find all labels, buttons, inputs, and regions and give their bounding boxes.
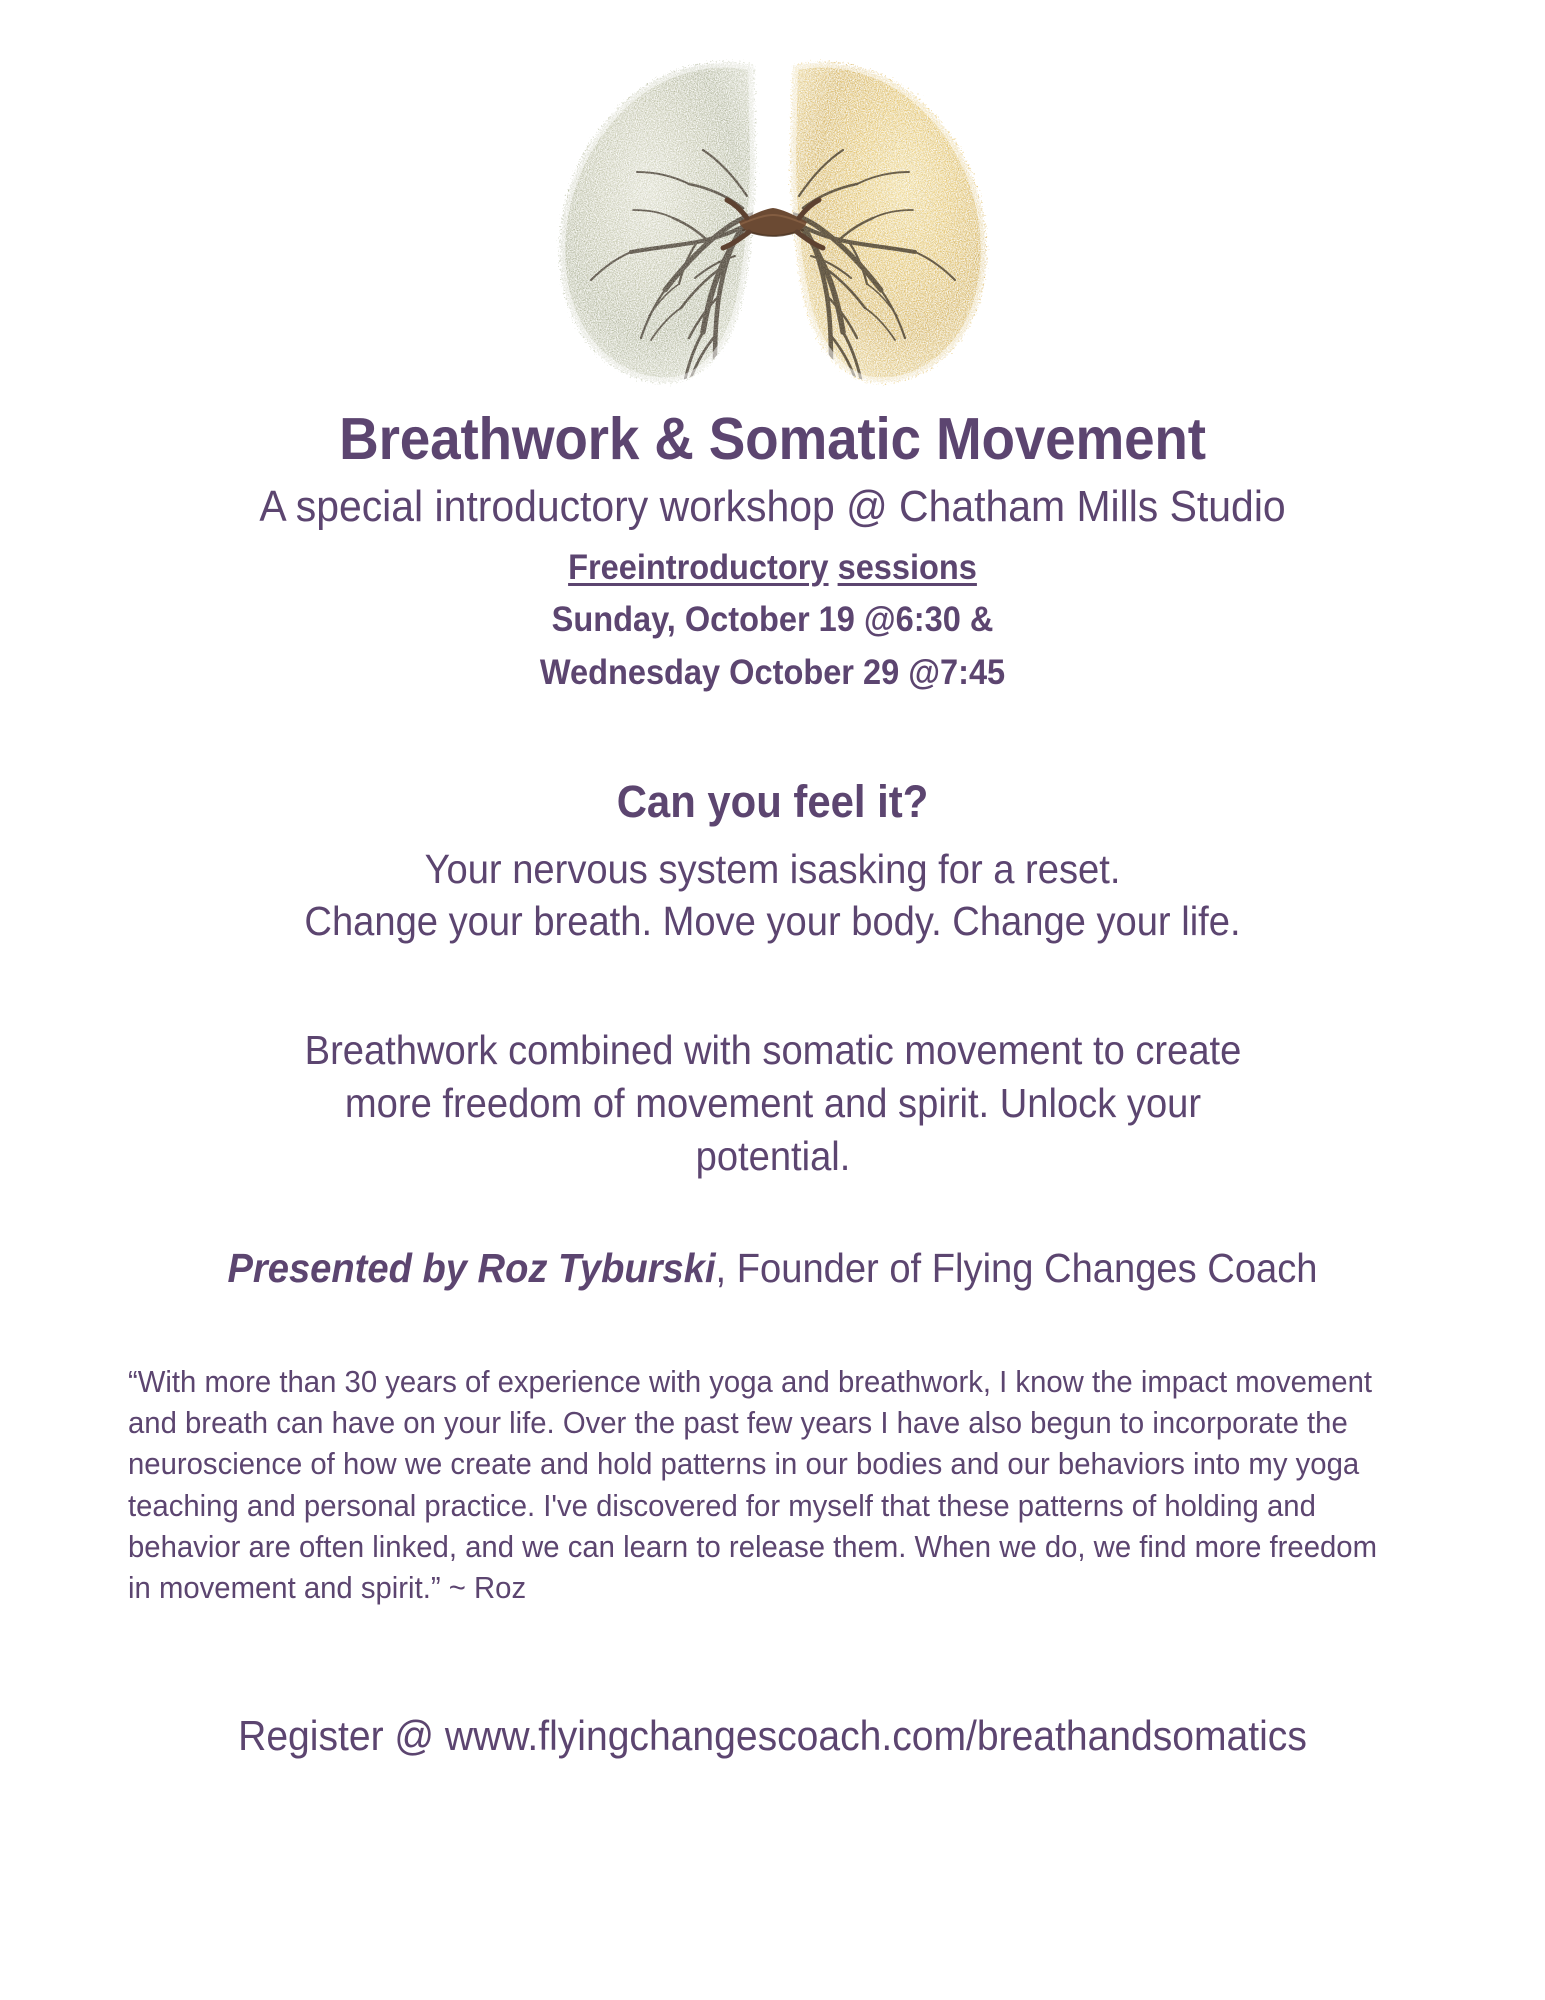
session-date-2: Wednesday October 29 @7:45 — [54, 647, 1491, 700]
flyer-page: Breathwork & Somatic Movement A special … — [0, 0, 1545, 2000]
body-copy: Breathwork combined with somatic movemen… — [280, 948, 1266, 1184]
lungs-tree-illustration — [503, 46, 1043, 396]
hook-headline: Can you feel it? — [54, 699, 1491, 827]
presenter-role: , Founder of Flying Changes Coach — [716, 1245, 1318, 1291]
lungs-tree-svg — [503, 46, 1043, 396]
hook-line-1: Your nervous system isasking for a reset… — [54, 843, 1491, 895]
sessions-heading-part1: Freeintroductory — [568, 548, 828, 587]
sessions-heading-part2: sessions — [838, 548, 977, 587]
subtitle: A special introductory workshop @ Chatha… — [54, 471, 1491, 533]
sessions-heading: Freeintroductory sessions — [54, 542, 1491, 595]
presenter-line: Presented by Roz Tyburski, Founder of Fl… — [54, 1184, 1491, 1293]
presenter-name: Presented by Roz Tyburski — [227, 1245, 715, 1291]
hero-artwork — [0, 0, 1545, 400]
session-date-1: Sunday, October 19 @6:30 & — [54, 594, 1491, 647]
sessions-block: Freeintroductory sessions Sunday, Octobe… — [54, 533, 1491, 700]
page-title: Breathwork & Somatic Movement — [54, 400, 1491, 471]
testimonial-quote: “With more than 30 years of experience w… — [128, 1293, 1394, 1608]
hook-line-2: Change your breath. Move your body. Chan… — [54, 895, 1491, 947]
hook-subtext: Your nervous system isasking for a reset… — [54, 827, 1491, 948]
register-line[interactable]: Register @ www.flyingchangescoach.com/br… — [54, 1608, 1491, 1761]
